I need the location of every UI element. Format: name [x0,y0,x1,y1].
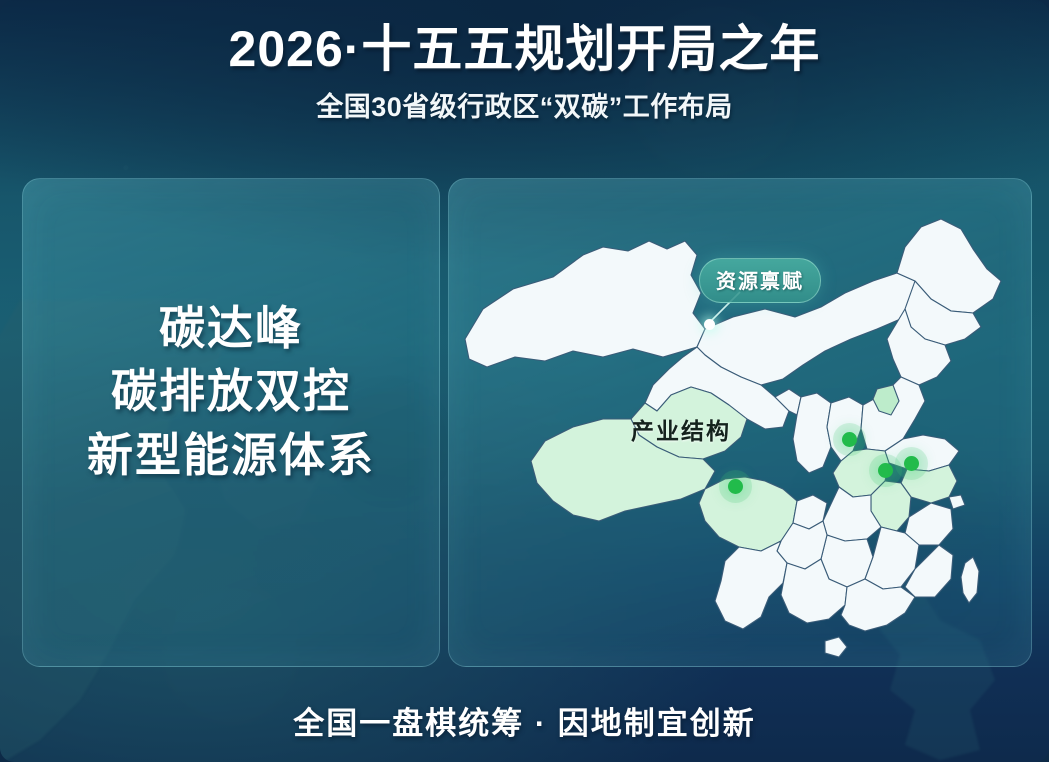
poster-root: 2026·十五五规划开局之年 全国30省级行政区“双碳”工作布局 碳达峰 碳排放… [0,0,1049,762]
slogan-line-2: 碳排放双控 [23,360,439,423]
province-yunnan [715,541,787,629]
map-card [448,178,1032,667]
page-subtitle: 全国30省级行政区“双碳”工作布局 [0,85,1049,124]
footer-caption: 全国一盘棋统筹 · 因地制宜创新 [0,698,1049,743]
slogan-line-1: 碳达峰 [23,297,439,360]
slogan-block: 碳达峰 碳排放双控 新型能源体系 [23,297,439,487]
province-taiwan [961,557,979,603]
china-map-container [449,179,1031,666]
marker-jiangsu[interactable] [904,456,919,471]
map-tooltip-resource-endowment[interactable]: 资源禀赋 [699,258,821,303]
map-label-industrial-structure: 产业结构 [631,412,731,446]
province-guangdong [841,579,915,631]
slogan-card: 碳达峰 碳排放双控 新型能源体系 [22,178,440,667]
slogan-line-3: 新型能源体系 [23,424,439,487]
province-xinjiang [465,241,705,367]
marker-sichuan[interactable] [728,479,743,494]
marker-anhui[interactable] [878,463,893,478]
tooltip-anchor-dot[interactable] [704,319,715,330]
province-shanghai [949,495,965,509]
marker-henan[interactable] [842,432,857,447]
province-hainan [825,637,847,657]
province-shaanxi [793,393,831,473]
poster-header: 2026·十五五规划开局之年 全国30省级行政区“双碳”工作布局 [0,22,1049,124]
page-title: 2026·十五五规划开局之年 [0,22,1049,76]
